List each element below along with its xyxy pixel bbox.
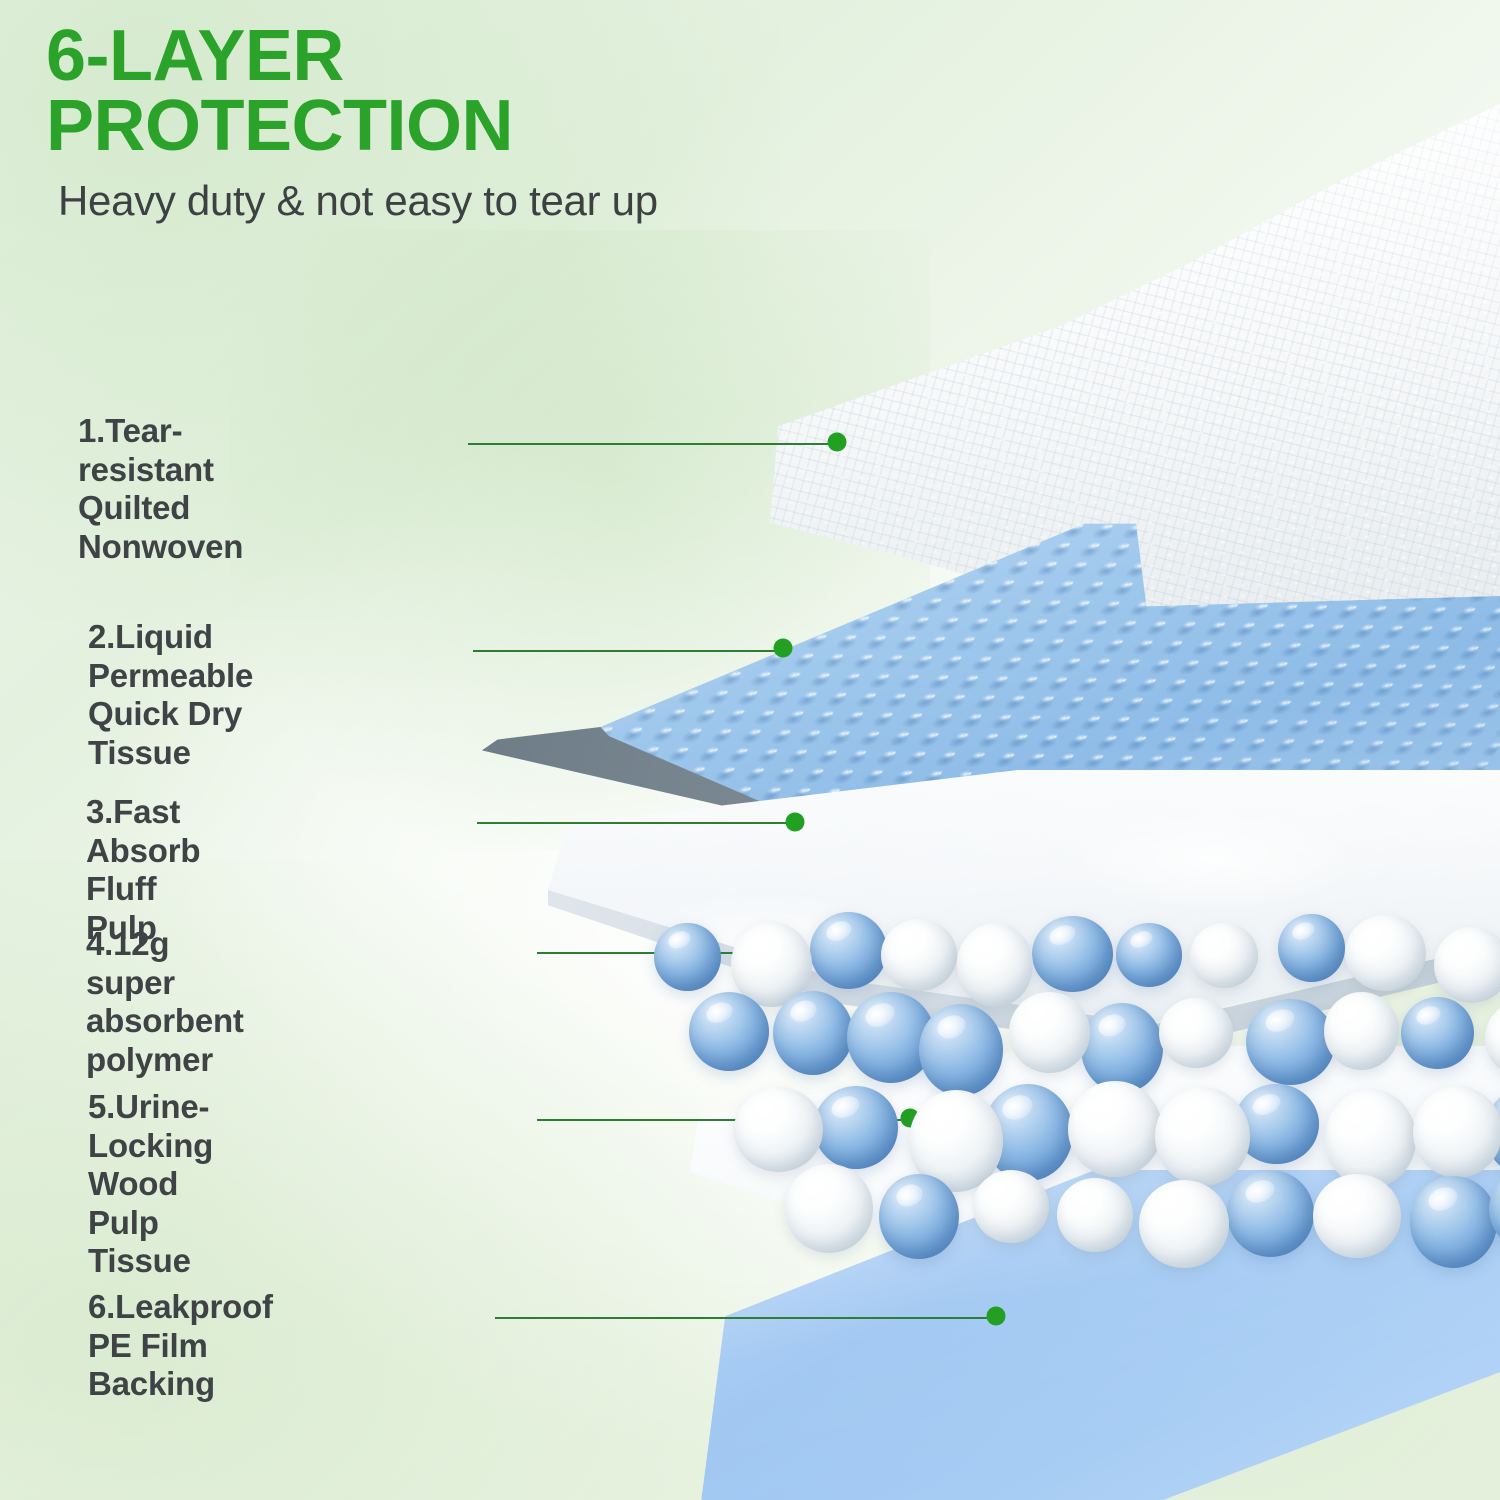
- bead-highlight: [1414, 1003, 1443, 1028]
- bead-highlight: [1329, 1180, 1364, 1210]
- bead-highlight: [1337, 998, 1368, 1025]
- leader-dot-3: [786, 813, 805, 832]
- sap-bead: [734, 1087, 822, 1172]
- page-title: 6-LAYER PROTECTION: [46, 22, 786, 162]
- leader-dot-1: [828, 433, 847, 452]
- bead-highlight: [970, 930, 1002, 958]
- sap-bead: [1116, 923, 1182, 986]
- sap-bead: [689, 992, 769, 1071]
- bead-highlight: [1047, 921, 1079, 948]
- callout-label-4: 4.12g super absorbent polymer: [86, 925, 244, 1079]
- sap-bead: [1410, 1176, 1497, 1267]
- bead-highlight: [895, 924, 926, 950]
- sap-bead: [1313, 1174, 1401, 1258]
- sap-bead: [919, 1004, 1003, 1096]
- sap-bead: [1434, 927, 1500, 1003]
- bead-highlight: [1425, 1183, 1461, 1214]
- bead-highlight: [1447, 932, 1478, 959]
- callout-label-1: 1.Tear-resistant Quilted Nonwoven: [78, 412, 243, 566]
- leader-dot-2: [774, 639, 793, 658]
- sap-bead: [1324, 992, 1399, 1070]
- sap-bead: [1401, 997, 1474, 1069]
- sap-bead: [1227, 1170, 1314, 1257]
- sap-bead: [879, 1174, 958, 1260]
- bead-highlight: [1262, 1005, 1298, 1036]
- bead-highlight: [666, 928, 693, 952]
- sap-bead: [957, 923, 1034, 1007]
- bead-highlight: [1290, 919, 1317, 943]
- sap-bead: [810, 912, 887, 989]
- bead-highlight: [1070, 1184, 1101, 1210]
- bead-highlight: [934, 1011, 969, 1042]
- bead-highlight: [862, 999, 898, 1030]
- callout-label-2: 2.Liquid Permeable Quick Dry Tissue: [88, 618, 253, 772]
- bead-highlight: [800, 1171, 836, 1202]
- bead-highlight: [745, 929, 778, 958]
- bead-highlight: [999, 1091, 1036, 1124]
- sap-bead: [1246, 999, 1335, 1086]
- bead-highlight: [1242, 1177, 1277, 1207]
- sap-bead: [654, 923, 720, 991]
- leader-line-1: [468, 443, 830, 445]
- bead-highlight: [1128, 928, 1155, 951]
- sap-bead: [785, 1164, 873, 1252]
- bead-highlight: [893, 1180, 926, 1209]
- bead-highlight: [1085, 1088, 1123, 1121]
- sap-bead: [1413, 1086, 1500, 1178]
- sap-bead: [1032, 916, 1113, 992]
- bead-highlight: [1172, 1095, 1211, 1129]
- bead-highlight: [1359, 920, 1392, 947]
- leader-line-3: [477, 822, 791, 824]
- sap-bead: [1278, 914, 1345, 983]
- sap-bead: [1345, 915, 1426, 992]
- sap-bead: [881, 919, 957, 992]
- bead-highlight: [1249, 1090, 1283, 1118]
- bead-highlight: [1023, 998, 1056, 1026]
- bead-highlight: [1341, 1097, 1379, 1131]
- sap-bead: [973, 1170, 1049, 1242]
- sap-bead: [1068, 1081, 1162, 1177]
- header: 6-LAYER PROTECTION Heavy duty & not easy…: [46, 22, 786, 224]
- bead-highlight: [829, 1092, 863, 1121]
- bead-highlight: [987, 1176, 1017, 1202]
- bead-highlight: [750, 1094, 785, 1124]
- sap-bead: [814, 1086, 899, 1169]
- sap-bead: [1190, 923, 1258, 987]
- infographic-root: 6-LAYER PROTECTION Heavy duty & not easy…: [0, 0, 1500, 1500]
- page-subtitle: Heavy duty & not easy to tear up: [58, 178, 786, 224]
- bead-highlight: [1155, 1186, 1191, 1217]
- callout-label-6: 6.Leakproof PE Film Backing: [88, 1288, 273, 1404]
- sap-bead: [1155, 1087, 1250, 1186]
- sap-bead: [1081, 1003, 1163, 1093]
- bead-highlight: [1202, 928, 1229, 951]
- leader-line-6: [495, 1317, 993, 1319]
- bead-highlight: [787, 997, 820, 1026]
- sap-bead: [1159, 998, 1232, 1068]
- bead-highlight: [1428, 1093, 1465, 1125]
- bead-highlight: [1095, 1011, 1129, 1041]
- leader-dot-6: [987, 1307, 1006, 1326]
- sap-bead: [773, 991, 853, 1075]
- bead-highlight: [925, 1098, 964, 1133]
- bead-highlight: [703, 998, 735, 1026]
- callout-label-5: 5.Urine-Locking Wood Pulp Tissue: [88, 1088, 213, 1281]
- bead-highlight: [1173, 1003, 1202, 1028]
- sap-bead: [1139, 1180, 1229, 1269]
- leader-line-2: [473, 650, 779, 652]
- sap-bead: [1325, 1089, 1417, 1188]
- bead-highlight: [824, 918, 855, 945]
